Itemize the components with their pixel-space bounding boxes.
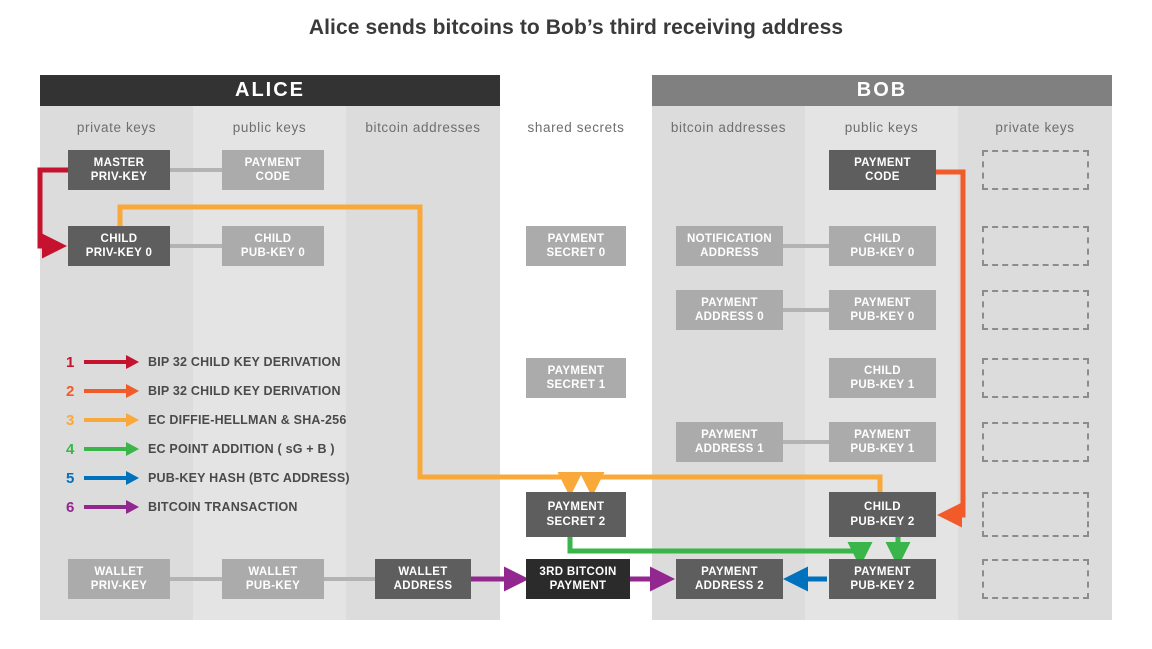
legend-arrow-5-icon	[82, 468, 140, 488]
page-title: Alice sends bitcoins to Bob’s third rece…	[0, 16, 1152, 40]
box-bob-child-pub-key-1[interactable]: CHILD PUB-KEY 1	[829, 358, 936, 398]
box-line-1: PAYMENT	[701, 565, 758, 579]
box-alice-master-priv-key[interactable]: MASTER PRIV-KEY	[68, 150, 170, 190]
legend-arrow-3-icon	[82, 410, 140, 430]
box-line-1: PAYMENT	[854, 565, 911, 579]
legend-label-6: BITCOIN TRANSACTION	[148, 500, 298, 514]
box-line-2: PUB-KEY 0	[241, 246, 305, 260]
bob-column-label-private-keys: private keys	[958, 120, 1112, 135]
box-alice-wallet-pub-key[interactable]: WALLET PUB-KEY	[222, 559, 324, 599]
box-bob-child-pub-key-2[interactable]: CHILD PUB-KEY 2	[829, 492, 936, 537]
box-line-2: ADDRESS	[700, 246, 759, 260]
legend-row-5: 5 PUB-KEY HASH (BTC ADDRESS)	[66, 468, 350, 488]
legend: 1 BIP 32 CHILD KEY DERIVATION 2 BIP 32 C…	[66, 352, 356, 520]
box-line-2: PUB-KEY 1	[850, 442, 914, 456]
box-line-2: ADDRESS 0	[695, 310, 764, 324]
legend-number-1: 1	[66, 354, 80, 371]
box-alice-child-priv-key-0[interactable]: CHILD PRIV-KEY 0	[68, 226, 170, 266]
legend-number-6: 6	[66, 499, 80, 516]
legend-number-4: 4	[66, 441, 80, 458]
legend-label-4: EC POINT ADDITION ( sG + B )	[148, 442, 335, 456]
box-line-1: PAYMENT	[548, 500, 605, 514]
box-bob-payment-address-2[interactable]: PAYMENT ADDRESS 2	[676, 559, 783, 599]
box-line-2: PAYMENT	[550, 579, 607, 593]
box-bob-private-key-placeholder-3	[982, 290, 1089, 330]
box-line-2: PUB-KEY	[246, 579, 300, 593]
box-bob-private-key-placeholder-2	[982, 226, 1089, 266]
box-line-2: CODE	[865, 170, 900, 184]
box-3rd-bitcoin-payment[interactable]: 3RD BITCOIN PAYMENT	[526, 559, 630, 599]
legend-label-1: BIP 32 CHILD KEY DERIVATION	[148, 355, 341, 369]
legend-row-1: 1 BIP 32 CHILD KEY DERIVATION	[66, 352, 341, 372]
legend-number-2: 2	[66, 383, 80, 400]
box-line-2: ADDRESS 2	[695, 579, 764, 593]
box-line-1: CHILD	[864, 232, 901, 246]
alice-column-label-public-keys: public keys	[193, 120, 346, 135]
box-line-1: CHILD	[864, 500, 901, 514]
legend-label-3: EC DIFFIE-HELLMAN & SHA-256	[148, 413, 346, 427]
box-alice-payment-code[interactable]: PAYMENT CODE	[222, 150, 324, 190]
box-bob-payment-pub-key-2[interactable]: PAYMENT PUB-KEY 2	[829, 559, 936, 599]
legend-arrow-2-icon	[82, 381, 140, 401]
box-bob-private-key-placeholder-4	[982, 358, 1089, 398]
box-bob-notification-address[interactable]: NOTIFICATION ADDRESS	[676, 226, 783, 266]
box-payment-secret-2[interactable]: PAYMENT SECRET 2	[526, 492, 626, 537]
box-alice-wallet-address[interactable]: WALLET ADDRESS	[375, 559, 471, 599]
box-bob-child-pub-key-0[interactable]: CHILD PUB-KEY 0	[829, 226, 936, 266]
box-line-2: PUB-KEY 2	[850, 515, 914, 529]
legend-number-5: 5	[66, 470, 80, 487]
box-line-2: SECRET 2	[546, 515, 605, 529]
box-bob-payment-code[interactable]: PAYMENT CODE	[829, 150, 936, 190]
box-line-1: PAYMENT	[701, 428, 758, 442]
box-line-2: SECRET 0	[546, 246, 605, 260]
box-line-1: CHILD	[255, 232, 292, 246]
alice-column-bitcoin-addresses: bitcoin addresses	[346, 106, 500, 620]
shared-secrets-column-label: shared secrets	[500, 120, 652, 135]
box-line-1: PAYMENT	[854, 296, 911, 310]
box-line-2: ADDRESS 1	[695, 442, 764, 456]
box-line-2: CODE	[256, 170, 291, 184]
box-line-2: PRIV-KEY	[91, 579, 147, 593]
legend-row-6: 6 BITCOIN TRANSACTION	[66, 497, 298, 517]
box-line-1: PAYMENT	[854, 428, 911, 442]
box-bob-private-key-placeholder-7	[982, 559, 1089, 599]
box-line-1: WALLET	[398, 565, 447, 579]
diagram-canvas: Alice sends bitcoins to Bob’s third rece…	[0, 0, 1152, 649]
box-bob-payment-address-0[interactable]: PAYMENT ADDRESS 0	[676, 290, 783, 330]
alice-panel-header: ALICE	[40, 75, 500, 106]
box-line-2: PUB-KEY 0	[850, 310, 914, 324]
legend-label-5: PUB-KEY HASH (BTC ADDRESS)	[148, 471, 350, 485]
box-line-1: CHILD	[101, 232, 138, 246]
alice-column-label-bitcoin-addresses: bitcoin addresses	[346, 120, 500, 135]
box-line-2: PRIV-KEY	[91, 170, 147, 184]
bob-column-bitcoin-addresses: bitcoin addresses	[652, 106, 805, 620]
box-line-1: NOTIFICATION	[687, 232, 772, 246]
legend-row-2: 2 BIP 32 CHILD KEY DERIVATION	[66, 381, 341, 401]
box-line-1: WALLET	[248, 565, 297, 579]
box-payment-secret-1[interactable]: PAYMENT SECRET 1	[526, 358, 626, 398]
box-line-1: PAYMENT	[854, 156, 911, 170]
box-line-2: ADDRESS	[394, 579, 453, 593]
legend-number-3: 3	[66, 412, 80, 429]
box-line-1: PAYMENT	[701, 296, 758, 310]
box-alice-wallet-priv-key[interactable]: WALLET PRIV-KEY	[68, 559, 170, 599]
box-bob-payment-pub-key-1[interactable]: PAYMENT PUB-KEY 1	[829, 422, 936, 462]
box-bob-private-key-placeholder-6	[982, 492, 1089, 537]
box-line-1: WALLET	[94, 565, 143, 579]
box-bob-private-key-placeholder-5	[982, 422, 1089, 462]
bob-column-label-public-keys: public keys	[805, 120, 958, 135]
box-line-1: MASTER	[94, 156, 145, 170]
box-bob-payment-address-1[interactable]: PAYMENT ADDRESS 1	[676, 422, 783, 462]
box-payment-secret-0[interactable]: PAYMENT SECRET 0	[526, 226, 626, 266]
legend-arrow-1-icon	[82, 352, 140, 372]
legend-row-4: 4 EC POINT ADDITION ( sG + B )	[66, 439, 335, 459]
box-line-1: PAYMENT	[245, 156, 302, 170]
bob-panel-header: BOB	[652, 75, 1112, 106]
box-line-1: 3RD BITCOIN	[539, 565, 616, 579]
box-line-2: PUB-KEY 0	[850, 246, 914, 260]
legend-arrow-4-icon	[82, 439, 140, 459]
legend-row-3: 3 EC DIFFIE-HELLMAN & SHA-256	[66, 410, 346, 430]
alice-column-label-private-keys: private keys	[40, 120, 193, 135]
bob-column-label-bitcoin-addresses: bitcoin addresses	[652, 120, 805, 135]
box-bob-payment-pub-key-0[interactable]: PAYMENT PUB-KEY 0	[829, 290, 936, 330]
box-line-2: PUB-KEY 2	[850, 579, 914, 593]
legend-arrow-6-icon	[82, 497, 140, 517]
box-line-1: PAYMENT	[548, 364, 605, 378]
box-line-1: CHILD	[864, 364, 901, 378]
box-bob-private-key-placeholder-1	[982, 150, 1089, 190]
box-line-2: PUB-KEY 1	[850, 378, 914, 392]
box-alice-child-pub-key-0[interactable]: CHILD PUB-KEY 0	[222, 226, 324, 266]
box-line-2: SECRET 1	[546, 378, 605, 392]
legend-label-2: BIP 32 CHILD KEY DERIVATION	[148, 384, 341, 398]
box-line-1: PAYMENT	[548, 232, 605, 246]
box-line-2: PRIV-KEY 0	[86, 246, 153, 260]
